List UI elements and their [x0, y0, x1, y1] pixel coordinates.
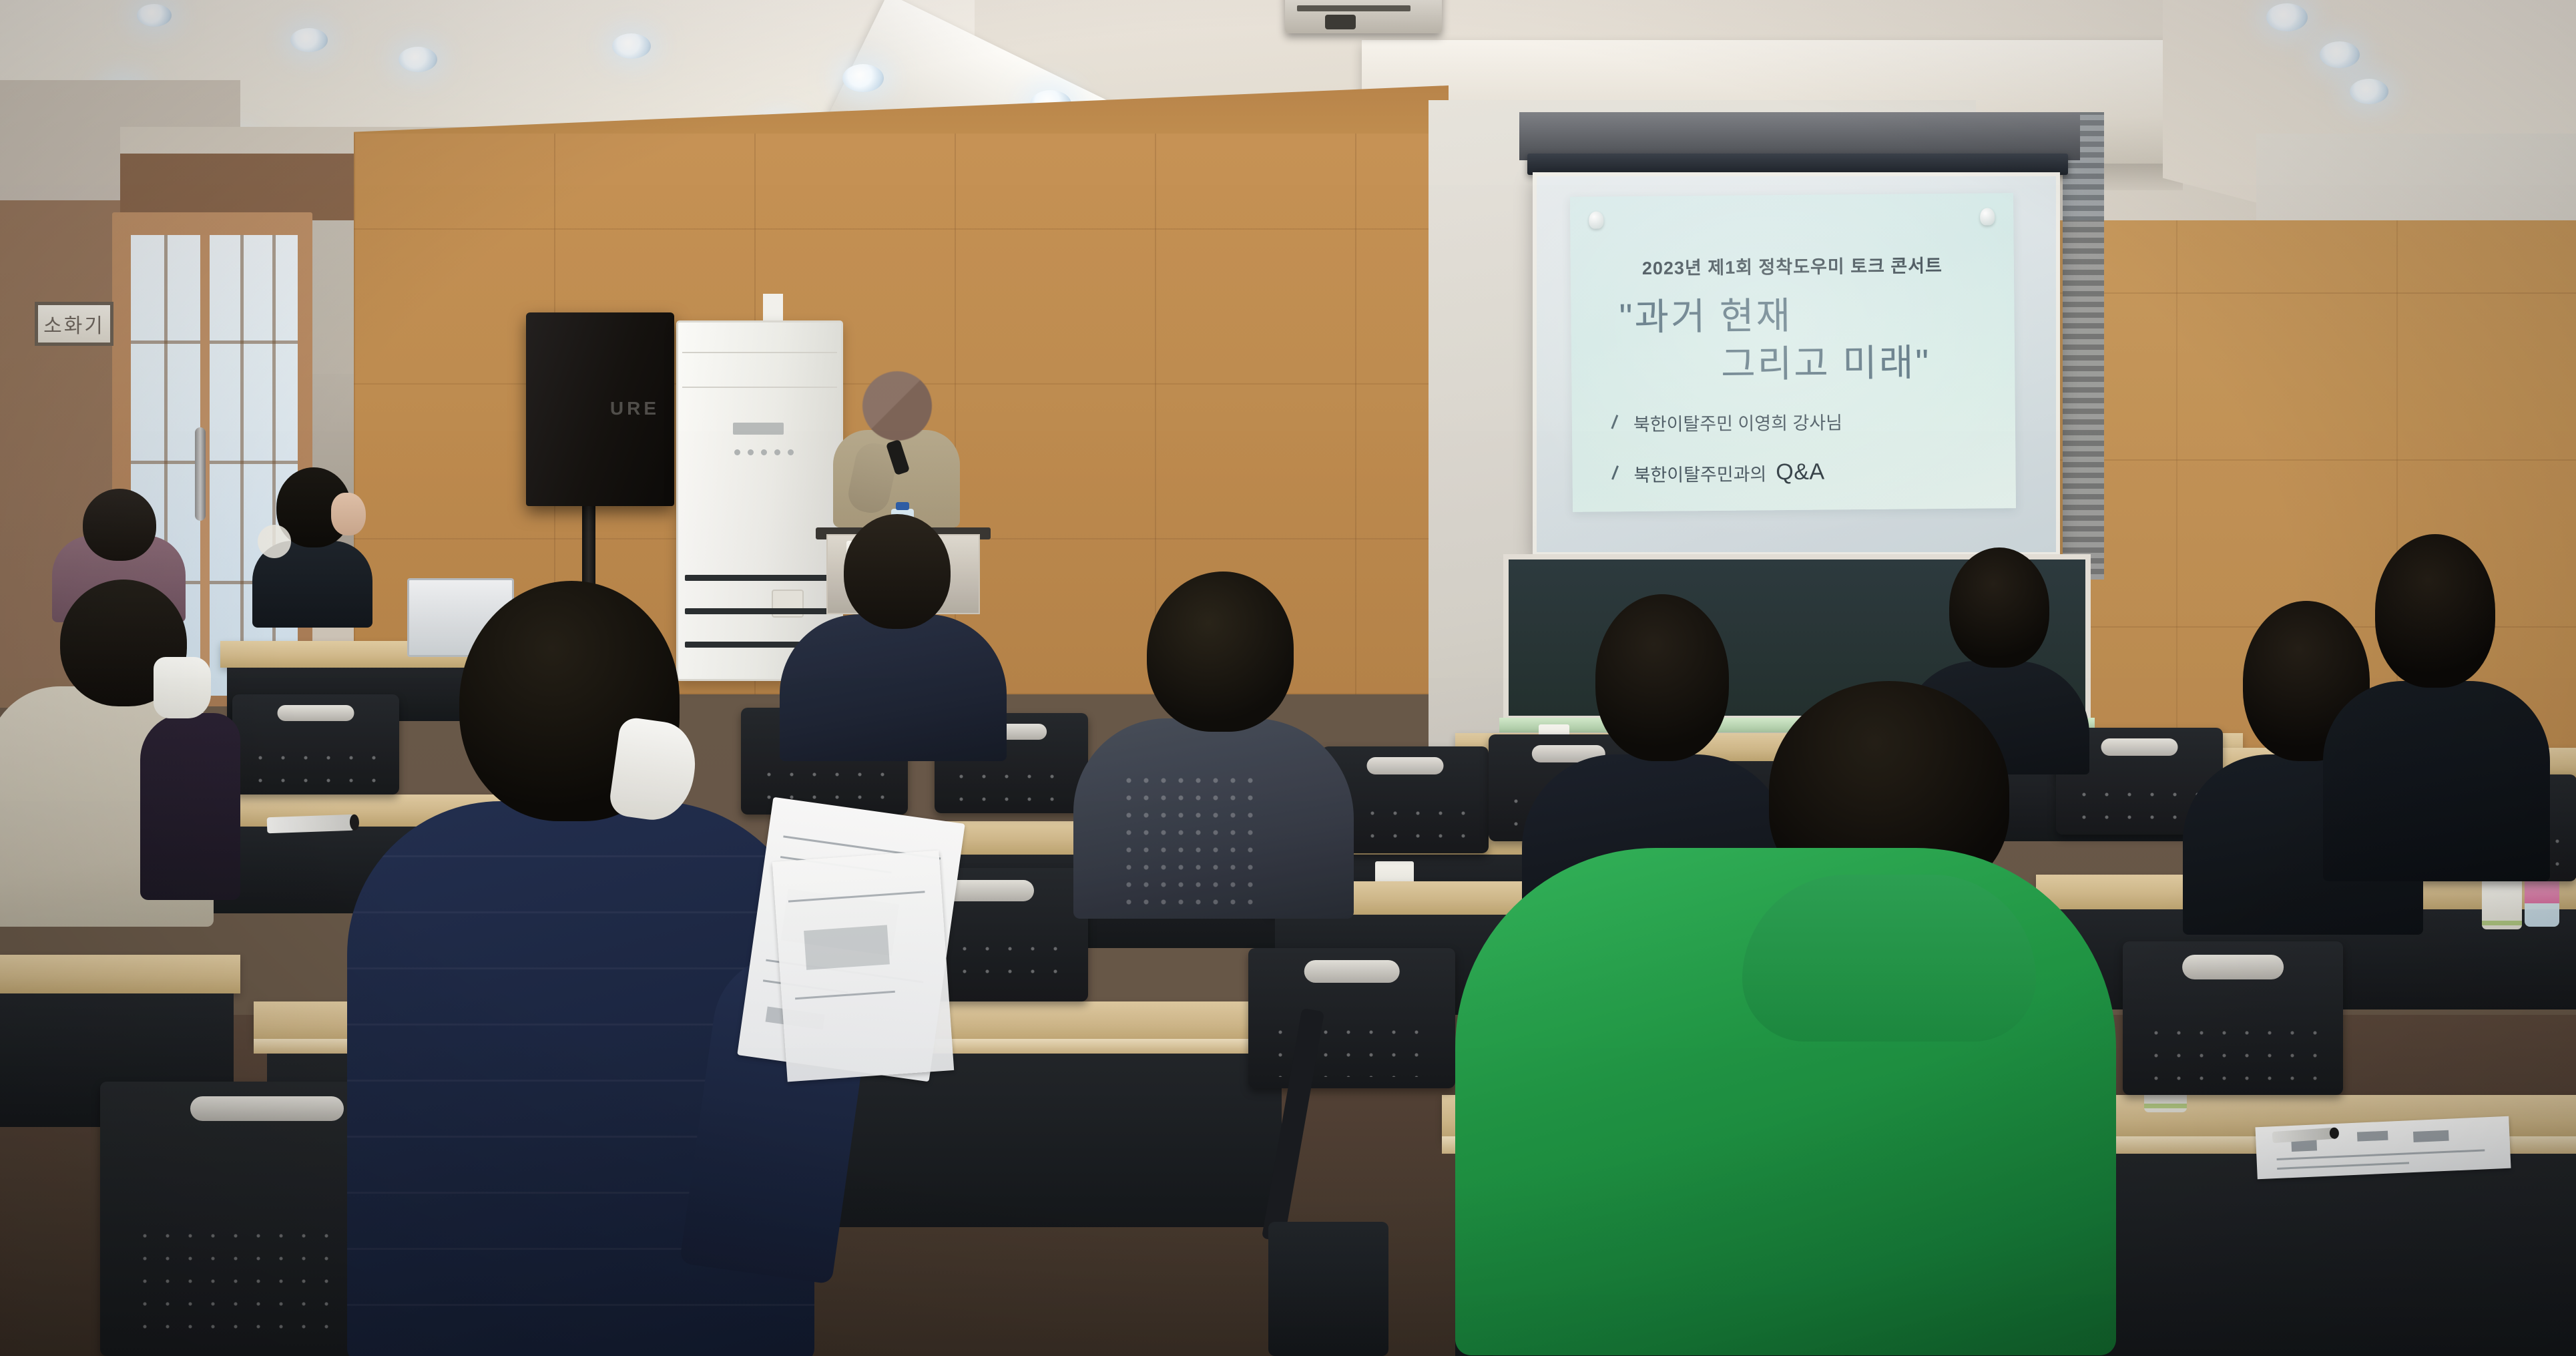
attendee-head [844, 514, 951, 629]
door-muntin [131, 341, 298, 344]
presenter-pixelated-face [862, 371, 932, 441]
pa-speaker: URE [526, 312, 674, 506]
attendee-body [2323, 681, 2550, 881]
pen[interactable] [267, 815, 354, 834]
attendee-face [331, 493, 366, 535]
downlight-icon [290, 28, 328, 52]
handout-paper[interactable] [2255, 1116, 2511, 1180]
slide-bullet-2-text: 북한이탈주민과의 [1633, 459, 1766, 487]
fire-sign-label: 소화기 [43, 309, 105, 338]
chair[interactable] [2123, 941, 2343, 1095]
paper-cup [2482, 880, 2522, 929]
projection-screen: 2023년 제1회 정착도우미 토크 콘서트 "과거 현재 그리고 미래" 북한… [1533, 172, 2060, 556]
attendee-head [1949, 547, 2049, 668]
downlight-icon [399, 47, 437, 72]
attendee-right-dark-2 [2323, 534, 2550, 881]
attendee-head [1147, 572, 1294, 732]
lecture-hall-photo: 소화기 URE 2023년 [0, 0, 2576, 1356]
attendee-head [2375, 534, 2495, 688]
slide-pin-icon [1980, 208, 1995, 225]
handout-paper[interactable] [772, 851, 954, 1082]
door-muntin [131, 461, 298, 464]
hair-tie [258, 525, 291, 558]
slide-subtitle: 2023년 제1회 정착도우미 토크 콘서트 [1571, 250, 2014, 280]
hoodie-hood [1742, 875, 2036, 1042]
bullet-marker-icon [1611, 415, 1626, 432]
downlight-icon [612, 33, 651, 59]
downlight-icon [2266, 3, 2308, 31]
slide-title-line-1: "과거 현재 [1619, 286, 1792, 341]
presentation-slide: 2023년 제1회 정착도우미 토크 콘서트 "과거 현재 그리고 미래" 북한… [1570, 193, 2016, 512]
face-mask [154, 657, 211, 718]
attendee-head [83, 489, 156, 561]
downlight-icon [2350, 79, 2388, 104]
downlight-icon [842, 64, 884, 92]
bullet-marker-icon [1611, 465, 1627, 483]
fire-extinguisher-sign: 소화기 [35, 302, 113, 346]
attendee-curly-hair-vest [1073, 572, 1354, 919]
slide-bullet-2: 북한이탈주민과의 Q&A [1613, 459, 1824, 487]
attendee-shirt-pattern [1120, 772, 1260, 905]
attendee-sleeve [140, 713, 240, 900]
window-blind [2063, 112, 2104, 580]
attendee-green-hoodie [1455, 681, 2123, 1356]
pa-speaker-brand-label: URE [610, 398, 660, 419]
slide-bullet-2-emphasis: Q&A [1776, 459, 1825, 486]
desk [0, 955, 240, 993]
slide-title-line-2: 그리고 미래" [1721, 332, 1931, 389]
ceiling-projector [1285, 0, 1442, 33]
tote-bag [1268, 1222, 1388, 1356]
slide-pin-icon [1589, 211, 1603, 228]
chair[interactable] [1248, 948, 1455, 1088]
attendee-beige-vest [0, 580, 254, 913]
slide-bullet-1-text: 북한이탈주민 이영희 강사님 [1633, 408, 1842, 436]
downlight-icon [137, 4, 172, 27]
slide-bullet-1: 북한이탈주민 이영희 강사님 [1613, 408, 1842, 436]
door-handle[interactable] [195, 427, 206, 521]
downlight-icon [2320, 41, 2360, 68]
